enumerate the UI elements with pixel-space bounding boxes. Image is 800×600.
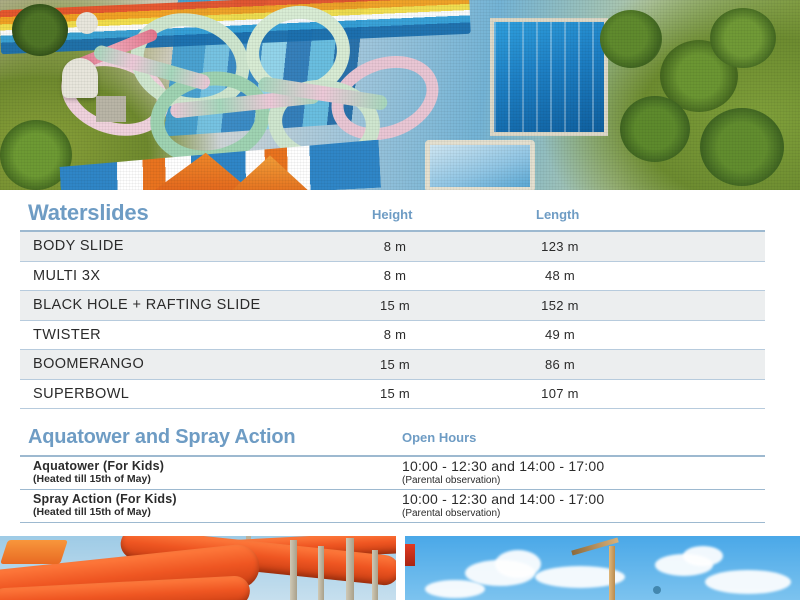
- photo-support-tower: [290, 540, 297, 600]
- slide-height: 8 m: [350, 327, 440, 342]
- attraction-hours: 10:00 - 12:30 and 14:00 - 17:00: [402, 458, 604, 474]
- column-header-height: Height: [372, 207, 412, 222]
- photo-bird: [653, 586, 661, 594]
- slide-name: BODY SLIDE: [33, 238, 124, 254]
- photo-support-tower: [318, 546, 324, 600]
- slide-length: 48 m: [515, 268, 605, 283]
- table-row: BODY SLIDE 8 m 123 m: [20, 232, 765, 262]
- waterslides-table: BODY SLIDE 8 m 123 m MULTI 3X 8 m 48 m B…: [20, 232, 765, 409]
- info-content: Waterslides Height Length BODY SLIDE 8 m…: [0, 190, 800, 530]
- slide-length: 49 m: [515, 327, 605, 342]
- slide-name: MULTI 3X: [33, 268, 100, 284]
- photo-cloud: [425, 580, 485, 598]
- attraction-hours-note: (Parental observation): [402, 475, 500, 486]
- footer-right-photo: [405, 536, 800, 600]
- brochure-page: Waterslides Height Length BODY SLIDE 8 m…: [0, 0, 800, 600]
- table-row: Spray Action (For Kids) (Heated till 15t…: [20, 490, 765, 523]
- attraction-name: Aquatower (For Kids): [33, 459, 164, 473]
- photo-cloud: [683, 546, 723, 566]
- slide-name: TWISTER: [33, 327, 101, 343]
- photo-cloud: [495, 550, 541, 578]
- slide-height: 15 m: [350, 386, 440, 401]
- column-header-length: Length: [536, 207, 579, 222]
- attraction-note: (Heated till 15th of May): [33, 473, 151, 485]
- attraction-note: (Heated till 15th of May): [33, 506, 151, 518]
- slide-height: 15 m: [350, 357, 440, 372]
- photo-cloud: [705, 570, 791, 594]
- footer-left-photo: [0, 536, 396, 600]
- attraction-hours-note: (Parental observation): [402, 508, 500, 519]
- table-row: Aquatower (For Kids) (Heated till 15th o…: [20, 457, 765, 490]
- slide-length: 107 m: [515, 386, 605, 401]
- slide-length: 152 m: [515, 298, 605, 313]
- photo-pole: [609, 546, 615, 600]
- footer-photo-strip: [0, 536, 800, 600]
- table-row: BOOMERANGO 15 m 86 m: [20, 350, 765, 380]
- hero-aerial-photo: [0, 0, 800, 190]
- attraction-name: Spray Action (For Kids): [33, 492, 177, 506]
- aquatower-title: Aquatower and Spray Action: [28, 426, 295, 449]
- column-header-open-hours: Open Hours: [402, 430, 476, 445]
- photo-slide-fin: [0, 540, 68, 564]
- slide-height: 8 m: [350, 239, 440, 254]
- table-row: TWISTER 8 m 49 m: [20, 321, 765, 351]
- attraction-hours: 10:00 - 12:30 and 14:00 - 17:00: [402, 491, 604, 507]
- slide-name: SUPERBOWL: [33, 386, 129, 402]
- slide-height: 15 m: [350, 298, 440, 313]
- photo-red-structure: [405, 544, 415, 566]
- table-row: SUPERBOWL 15 m 107 m: [20, 380, 765, 410]
- slide-name: BLACK HOLE + RAFTING SLIDE: [33, 297, 261, 313]
- table-row: BLACK HOLE + RAFTING SLIDE 15 m 152 m: [20, 291, 765, 321]
- photo-grain-overlay: [0, 0, 800, 190]
- photo-support-tower: [346, 538, 354, 600]
- table-row: MULTI 3X 8 m 48 m: [20, 262, 765, 292]
- slide-length: 123 m: [515, 239, 605, 254]
- slide-length: 86 m: [515, 357, 605, 372]
- aquatower-table: Aquatower (For Kids) (Heated till 15th o…: [20, 457, 765, 523]
- slide-height: 8 m: [350, 268, 440, 283]
- photo-support-tower: [372, 550, 378, 600]
- waterslides-title: Waterslides: [28, 200, 148, 226]
- slide-name: BOOMERANGO: [33, 356, 144, 372]
